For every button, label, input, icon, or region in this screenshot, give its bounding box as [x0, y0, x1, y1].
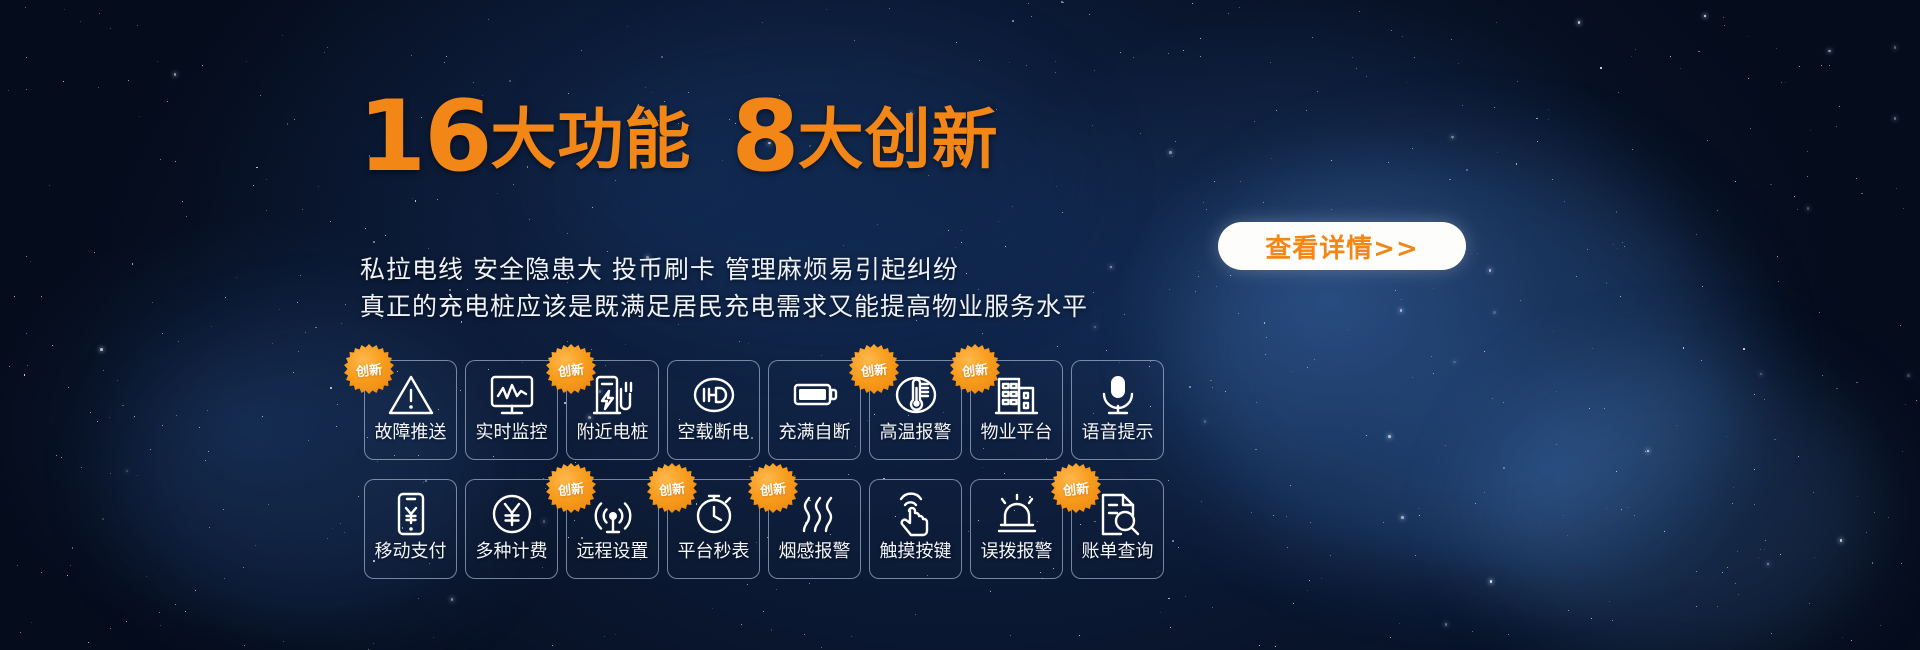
headline-number-16: 16 — [358, 80, 490, 194]
feature-label: 账单查询 — [1082, 543, 1154, 561]
feature-label: 物业平台 — [981, 424, 1053, 442]
feature-card-alarm-siren[interactable]: 误拨报警 — [970, 479, 1063, 579]
plug-circle-icon — [668, 361, 759, 423]
innovation-badge-label: 创新 — [355, 358, 383, 380]
mobile-payment-icon — [365, 480, 456, 542]
feature-cell: 烟感报警创新 — [764, 479, 865, 592]
alarm-siren-icon — [971, 480, 1062, 542]
microphone-icon — [1072, 361, 1163, 423]
yuan-circle-icon — [466, 480, 557, 542]
nebula-glow — [1180, 150, 1740, 570]
feature-label: 误拨报警 — [981, 543, 1053, 561]
feature-card-plug-circle[interactable]: 空载断电 — [667, 360, 760, 460]
headline-number-8: 8 — [731, 80, 797, 194]
feature-card-monitor-waveform[interactable]: 实时监控 — [465, 360, 558, 460]
headline-text-innovations: 大创新 — [798, 101, 999, 178]
feature-cell: 移动支付 — [360, 479, 461, 592]
feature-cell: 空载断电 — [663, 360, 764, 473]
feature-card-touch-hand[interactable]: 触摸按键 — [869, 479, 962, 579]
feature-label: 附近电桩 — [577, 424, 649, 442]
headline-text-functions: 大功能 — [490, 101, 691, 178]
feature-cell: 账单查询创新 — [1067, 479, 1168, 592]
innovation-badge: 创新 — [647, 463, 697, 513]
feature-card-mobile-payment[interactable]: 移动支付 — [364, 479, 457, 579]
innovation-badge-label: 创新 — [1062, 477, 1090, 499]
feature-cell: 触摸按键 — [865, 479, 966, 592]
innovation-badge: 创新 — [344, 344, 394, 394]
view-details-button[interactable]: 查看详情>> — [1218, 222, 1466, 270]
feature-grid: 故障推送创新实时监控附近电桩创新空载断电充满自断高温报警创新物业平台创新语音提示… — [360, 360, 1168, 592]
subtitle-line-2: 真正的充电桩应该是既满足居民充电需求又能提高物业服务水平 — [360, 287, 1088, 323]
feature-cell: 附近电桩创新 — [562, 360, 663, 473]
innovation-badge-label: 创新 — [557, 358, 585, 380]
feature-label: 移动支付 — [375, 543, 447, 561]
feature-label: 烟感报警 — [779, 543, 851, 561]
feature-label: 远程设置 — [577, 543, 649, 561]
feature-cell: 物业平台创新 — [966, 360, 1067, 473]
feature-card-microphone[interactable]: 语音提示 — [1071, 360, 1164, 460]
feature-card-battery-full[interactable]: 充满自断 — [768, 360, 861, 460]
feature-label: 故障推送 — [375, 424, 447, 442]
feature-label: 语音提示 — [1082, 424, 1154, 442]
feature-label: 触摸按键 — [880, 543, 952, 561]
battery-full-icon — [769, 361, 860, 423]
feature-cell: 语音提示 — [1067, 360, 1168, 473]
feature-label: 空载断电 — [678, 424, 750, 442]
subtitle-line-1: 私拉电线 安全隐患大 投币刷卡 管理麻烦易引起纠纷 — [360, 250, 959, 286]
innovation-badge-label: 创新 — [759, 477, 787, 499]
monitor-waveform-icon — [466, 361, 557, 423]
feature-label: 平台秒表 — [678, 543, 750, 561]
touch-hand-icon — [870, 480, 961, 542]
feature-label: 多种计费 — [476, 543, 548, 561]
headline: 16大功能8大创新 — [358, 88, 999, 186]
innovation-badge: 创新 — [546, 463, 596, 513]
innovation-badge-label: 创新 — [860, 358, 888, 380]
feature-label: 实时监控 — [476, 424, 548, 442]
innovation-badge: 创新 — [1051, 463, 1101, 513]
innovation-badge: 创新 — [748, 463, 798, 513]
innovation-badge: 创新 — [950, 344, 1000, 394]
feature-label: 充满自断 — [779, 424, 851, 442]
innovation-badge-label: 创新 — [961, 358, 989, 380]
nebula-glow — [1480, 360, 1880, 650]
promo-banner: 16大功能8大创新 私拉电线 安全隐患大 投币刷卡 管理麻烦易引起纠纷 真正的充… — [0, 0, 1920, 650]
innovation-badge: 创新 — [546, 344, 596, 394]
feature-card-yuan-circle[interactable]: 多种计费 — [465, 479, 558, 579]
feature-label: 高温报警 — [880, 424, 952, 442]
innovation-badge-label: 创新 — [557, 477, 585, 499]
innovation-badge: 创新 — [849, 344, 899, 394]
innovation-badge-label: 创新 — [658, 477, 686, 499]
feature-cell: 故障推送创新 — [360, 360, 461, 473]
